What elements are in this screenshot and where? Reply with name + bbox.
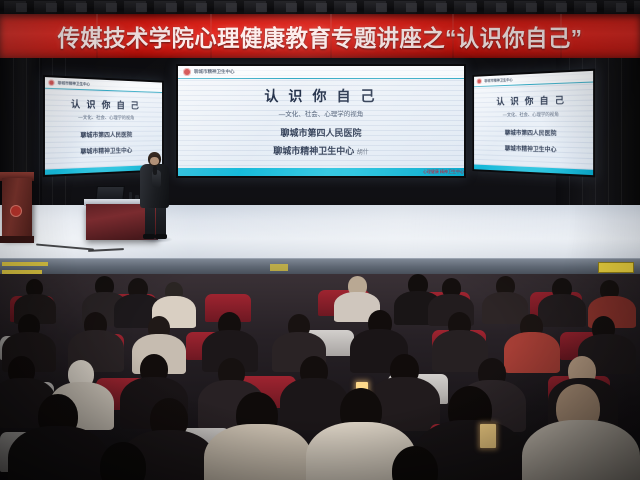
ceiling-light-fixture: [166, 3, 177, 12]
presenter-leg-right: [156, 206, 166, 236]
left-side-screen: 聊城市精神卫生中心 认 识 你 自 己 —文化、社会、心理学的视角 聊城市第四人…: [43, 75, 164, 177]
slide-speaker-name: 胡什: [357, 150, 369, 156]
banner-fold: [330, 14, 332, 58]
ceiling-light-fixture: [196, 3, 207, 12]
banner-fold: [96, 14, 98, 58]
ceiling-light-fixture: [406, 3, 417, 12]
banner-fold: [210, 14, 212, 58]
event-banner: 传媒技术学院心理健康教育专题讲座之“认识你自己”: [0, 14, 640, 58]
audience-shoulders: [522, 420, 640, 480]
ceiling-light-fixture: [466, 3, 477, 12]
slide-title-right: 认 识 你 自 己: [474, 92, 593, 108]
slide-org2-left: 聊城市精神卫生中心: [45, 145, 162, 157]
audience-seating: [0, 274, 640, 480]
ceiling-light-fixture: [496, 3, 507, 12]
ceiling-light-fixture: [586, 3, 597, 12]
slide-subtitle-right: —文化、社会、心理学的视角: [474, 111, 593, 118]
screen-scanlines-right: [474, 71, 593, 175]
slide-org2-main: 聊城市精神卫生中心 胡什: [178, 144, 464, 157]
ceiling-light-fixture: [226, 3, 237, 12]
presenter-leg-left: [145, 206, 155, 236]
lectern-base: [0, 236, 34, 243]
screen-scanlines-main: [178, 66, 464, 176]
ceiling-light-fixture: [76, 3, 87, 12]
hospital-logo-icon: [48, 79, 54, 86]
ceiling-light-fixture: [106, 3, 117, 12]
slide-header-main: 聊城市精神卫生中心: [178, 66, 466, 79]
ceiling-truss-segment: [634, 1, 640, 14]
main-projection-screen: 聊城市精神卫生中心 认 识 你 自 己 —文化、社会、心理学的视角 聊城市第四人…: [176, 64, 466, 178]
ceiling-light-fixture: [526, 3, 537, 12]
ceiling-light-fixture: [316, 3, 327, 12]
audience-shoulders: [538, 294, 586, 327]
ceiling-light-fixture: [346, 3, 357, 12]
audience-shoulders: [504, 332, 560, 373]
ceiling-light-fixture: [256, 3, 267, 12]
presenter-shoe-left: [143, 234, 155, 239]
slide-footer-note: 心理健康 精神卫生中心: [423, 169, 464, 175]
slide-org2-right: 聊城市精神卫生中心: [474, 143, 593, 155]
banner-fold: [452, 14, 454, 58]
right-side-screen: 聊城市精神卫生中心 认 识 你 自 己 —文化、社会、心理学的视角 聊城市第四人…: [472, 69, 595, 178]
slide-title-left: 认 识 你 自 己: [45, 96, 162, 112]
slide-header-right: 聊城市精神卫生中心: [474, 71, 595, 88]
ceiling-light-fixture: [376, 3, 387, 12]
screen-glare-main: [178, 66, 464, 176]
phone-screen-glow: [480, 424, 496, 448]
lectern-emblem-icon: [10, 205, 22, 217]
slide-title-main: 认 识 你 自 己: [178, 86, 464, 106]
slide-org1-right: 聊城市第四人民医院: [474, 128, 593, 138]
screen-glare-right: [474, 71, 593, 175]
slide-org2-text: 聊城市精神卫生中心: [273, 146, 354, 156]
ceiling-light-fixture: [286, 3, 297, 12]
microphone-icon: [153, 166, 157, 175]
slide-subtitle-main: —文化、社会、心理学的视角: [178, 108, 464, 118]
audience-shoulders: [204, 424, 312, 480]
audience-shoulders: [8, 426, 108, 480]
ceiling-light-fixture: [616, 3, 627, 12]
presenter-face: [150, 157, 159, 165]
slide-org1-left: 聊城市第四人民医院: [45, 130, 162, 140]
ceiling-light-fixture: [136, 3, 147, 12]
stage-edge-sign: [598, 262, 634, 273]
ceiling-light-fixture: [16, 3, 27, 12]
banner-fold: [560, 14, 562, 58]
slide-subtitle-left: —文化、社会、心理学的视角: [45, 114, 162, 121]
stage-warning-stripe: [270, 264, 288, 271]
slide-org1-main: 聊城市第四人民医院: [178, 126, 464, 139]
ceiling-light-fixture: [46, 3, 57, 12]
banner-text: 传媒技术学院心理健康教育专题讲座之“认识你自己”: [10, 14, 631, 58]
slide-header-left: 聊城市精神卫生中心: [45, 77, 164, 93]
hospital-logo-icon: [477, 78, 482, 84]
slide-footer-main: 心理健康 精神卫生中心: [178, 168, 466, 176]
stage-warning-stripe: [2, 262, 48, 266]
audience-shoulders: [280, 378, 348, 430]
hospital-logo-icon: [183, 68, 191, 76]
presenter-shoe-right: [155, 234, 167, 239]
auditorium-photo: 传媒技术学院心理健康教育专题讲座之“认识你自己” 聊城市精神卫生中心 认 识 你…: [0, 0, 640, 480]
ceiling-light-fixture: [556, 3, 567, 12]
ceiling-light-fixture: [436, 3, 447, 12]
